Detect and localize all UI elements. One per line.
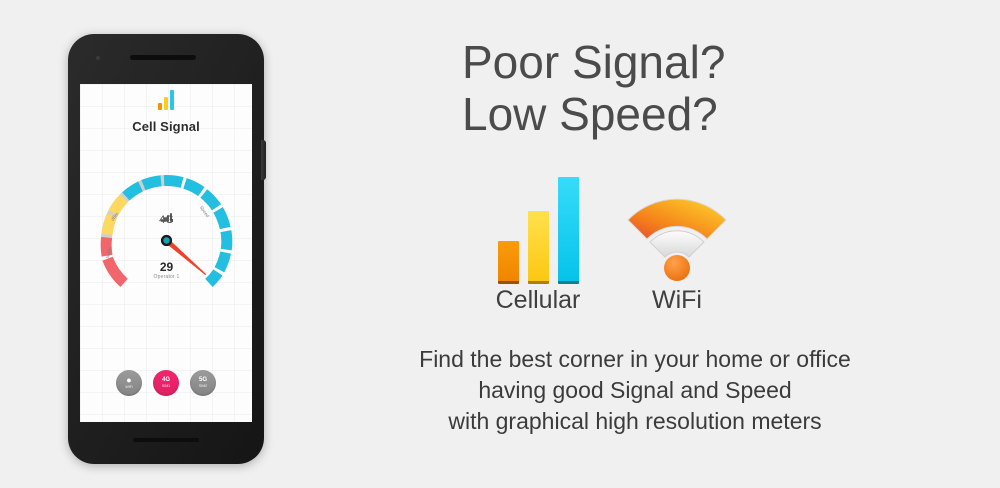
cellular-bar-1 <box>498 241 519 284</box>
wifi-middle-arc <box>650 231 704 257</box>
feature-icon-row: Cellular <box>460 178 760 318</box>
phone-top-bezel <box>68 34 264 84</box>
cellular-bar-3 <box>558 177 579 284</box>
cellular-bar-2 <box>528 211 549 284</box>
headline-line-2: Low Speed? <box>462 88 725 140</box>
gauge-dial <box>94 168 239 313</box>
front-camera-icon <box>96 56 100 60</box>
tagline-line-3: with graphical high resolution meters <box>270 406 1000 437</box>
tagline: Find the best corner in your home or off… <box>0 344 1000 437</box>
wifi-center-dot <box>664 255 690 281</box>
cellular-caption: Cellular <box>478 286 598 315</box>
promo-banner: Cell Signal <box>0 0 1000 488</box>
wifi-caption: WiFi <box>612 286 742 315</box>
gauge-hub-inner <box>163 237 169 243</box>
tagline-line-1: Find the best corner in your home or off… <box>270 344 1000 375</box>
cell-signal-gauge[interactable]: 4G 29 Operator 1 dBm Noise Speed <box>94 168 239 313</box>
gauge-value: 29 <box>94 260 239 274</box>
gauge-operator-label: Operator 1 <box>94 274 239 280</box>
signal-bars-icon <box>158 90 174 110</box>
headline: Poor Signal? Low Speed? <box>462 36 725 140</box>
app-header: Cell Signal <box>80 90 252 134</box>
wifi-signal-icon <box>612 178 742 284</box>
cellular-feature: Cellular <box>478 178 598 315</box>
bottom-speaker <box>133 438 199 442</box>
cellular-bars-icon <box>478 178 598 284</box>
phone-power-button[interactable] <box>261 140 266 180</box>
app-title: Cell Signal <box>80 119 252 134</box>
earpiece-speaker <box>130 55 196 60</box>
wifi-feature: WiFi <box>612 178 742 315</box>
headline-line-1: Poor Signal? <box>462 36 725 88</box>
tagline-line-2: having good Signal and Speed <box>270 375 1000 406</box>
